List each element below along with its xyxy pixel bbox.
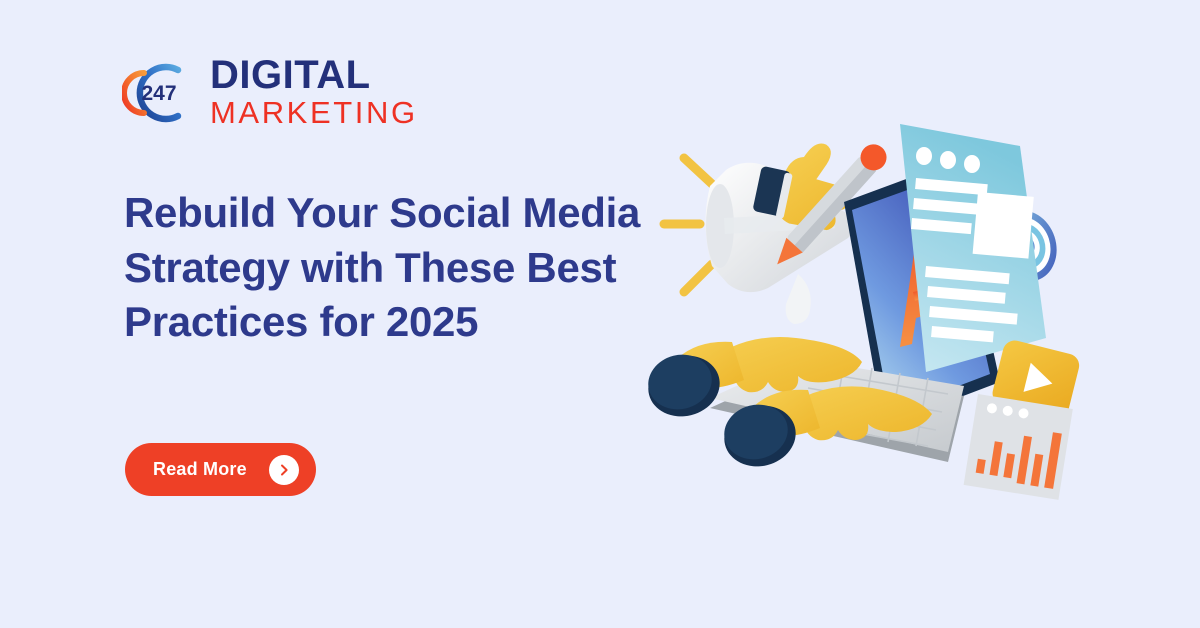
read-more-button[interactable]: Read More <box>125 443 316 496</box>
brand-logo[interactable]: 247 DIGITAL MARKETING <box>122 56 418 131</box>
megaphone-rays-icon <box>664 158 712 292</box>
logo-line-marketing: MARKETING <box>210 96 418 131</box>
logo-line-digital: DIGITAL <box>210 56 418 95</box>
page-title: Rebuild Your Social Media Strategy with … <box>124 186 644 350</box>
247-circle-logo-icon: 247 <box>122 56 196 130</box>
read-more-label: Read More <box>153 459 247 480</box>
promo-banner: 247 DIGITAL MARKETING Rebuild Your Socia… <box>0 0 1200 628</box>
social-media-marketing-laptop-illustration <box>648 96 1098 516</box>
svg-text:247: 247 <box>141 82 176 105</box>
chevron-right-icon <box>269 455 299 485</box>
bar-chart-card <box>964 394 1073 500</box>
logo-wordmark: DIGITAL MARKETING <box>210 56 418 131</box>
